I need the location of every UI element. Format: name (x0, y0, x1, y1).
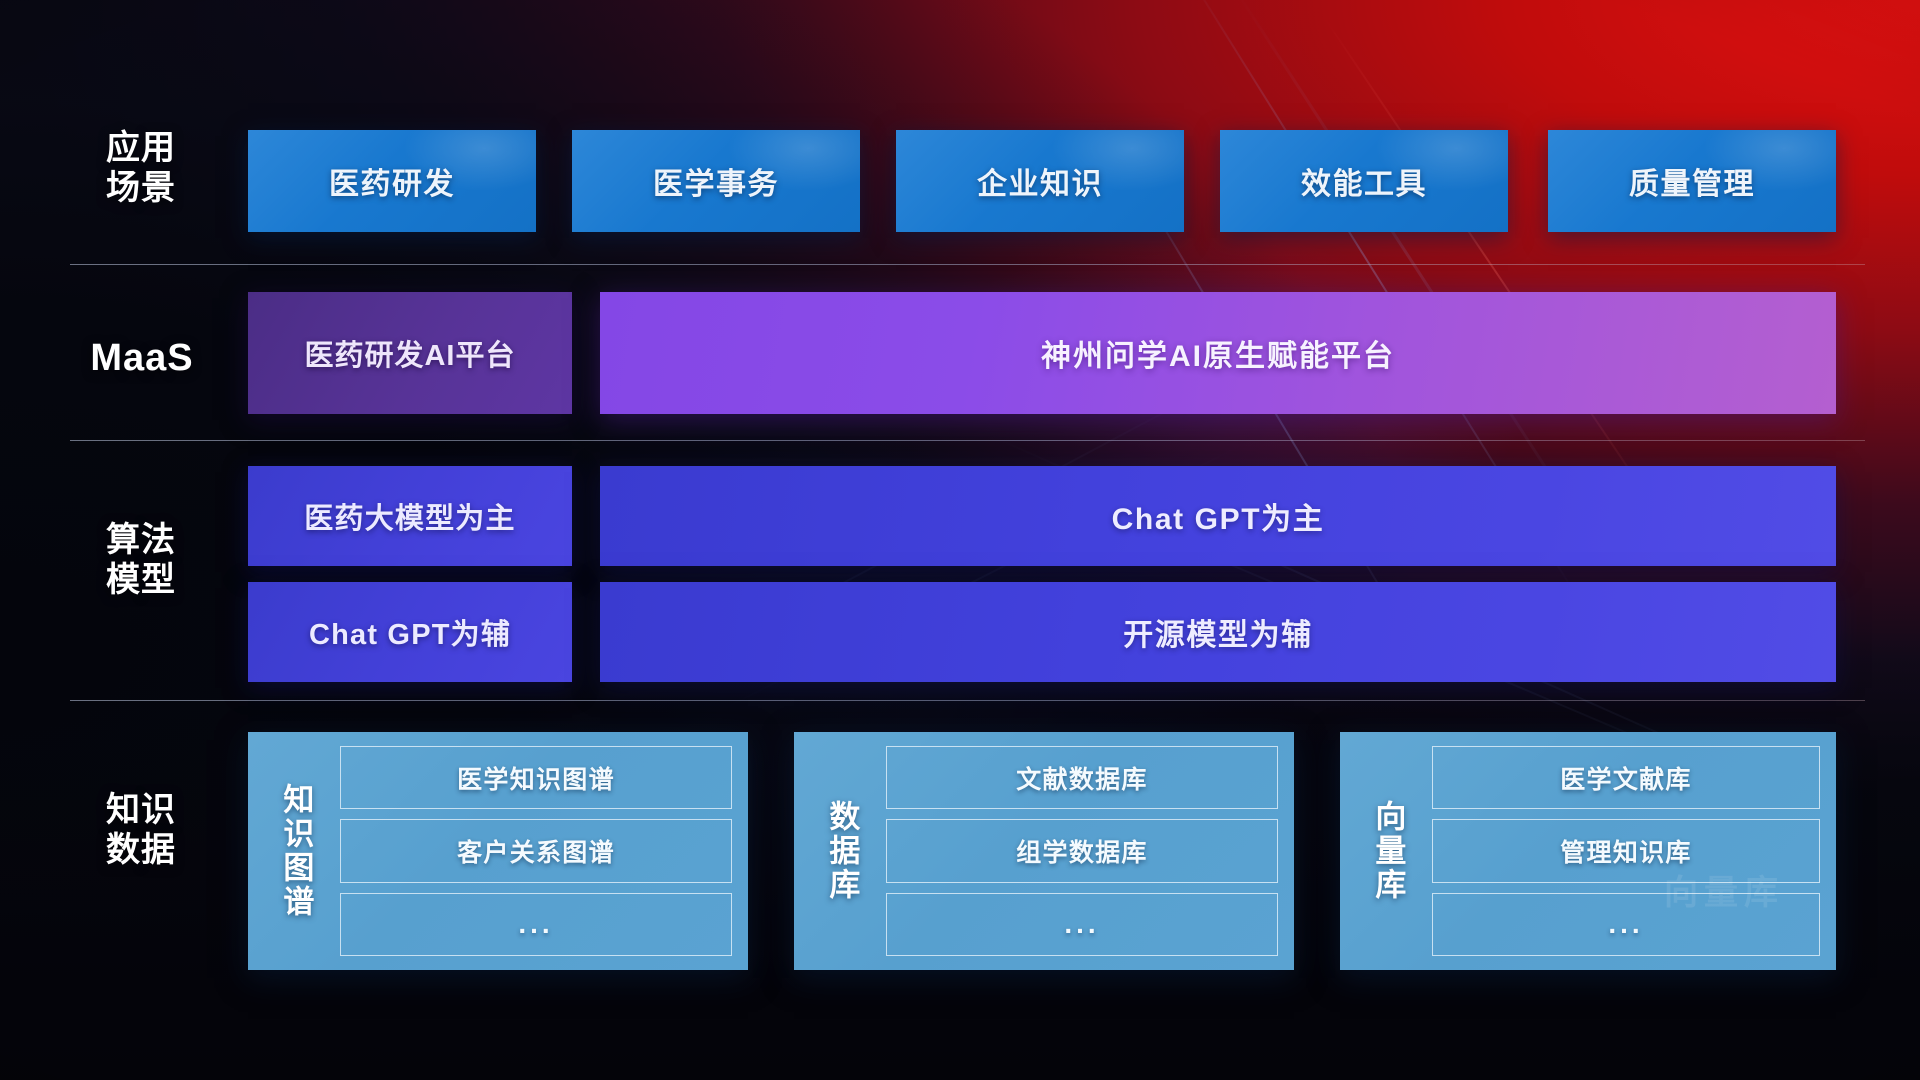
divider-algorithm-knowledge (70, 700, 1865, 701)
divider-application-maas (70, 264, 1865, 265)
app-scenario-box-2[interactable]: 医学事务 (572, 130, 860, 232)
knowledge-card-3-items: 医学文献库 管理知识库 ... (1418, 746, 1820, 956)
knowledge-card-2-title: 数据库 (810, 746, 872, 956)
maas-platform-box-left[interactable]: 医药研发AI平台 (248, 292, 572, 414)
knowledge-card-2-item-3[interactable]: ... (886, 893, 1278, 956)
maas-platform-box-right[interactable]: 神州问学AI原生赋能平台 (600, 292, 1836, 414)
knowledge-card-1-items: 医学知识图谱 客户关系图谱 ... (326, 746, 732, 956)
algorithm-label-row2-left: Chat GPT为辅 (309, 611, 511, 653)
row-label-knowledge: 知识 数据 (76, 790, 206, 870)
row-label-application: 应用 场景 (76, 128, 206, 208)
knowledge-card-2-item-2[interactable]: 组学数据库 (886, 819, 1278, 882)
knowledge-card-1-item-2[interactable]: 客户关系图谱 (340, 819, 732, 882)
row-label-algorithm-line1: 算法 (76, 520, 206, 560)
algorithm-box-row2-right[interactable]: 开源模型为辅 (600, 582, 1836, 682)
row-label-maas: MaaS (62, 336, 222, 381)
app-scenario-label-4: 效能工具 (1301, 159, 1427, 203)
knowledge-card-1-item-1[interactable]: 医学知识图谱 (340, 746, 732, 809)
knowledge-card-2[interactable]: 数据库 文献数据库 组学数据库 ... (794, 732, 1294, 970)
row-label-algorithm-line2: 模型 (76, 560, 206, 600)
app-scenario-box-3[interactable]: 企业知识 (896, 130, 1184, 232)
knowledge-card-1-title: 知识图谱 (264, 746, 326, 956)
row-label-application-line1: 应用 (76, 128, 206, 168)
row-label-application-line2: 场景 (76, 168, 206, 208)
algorithm-box-row1-left[interactable]: 医药大模型为主 (248, 466, 572, 566)
app-scenario-label-5: 质量管理 (1629, 159, 1755, 203)
slide-canvas: 应用 场景 医药研发 医学事务 企业知识 效能工具 质量管理 MaaS 医药研发… (0, 0, 1920, 1080)
knowledge-card-2-item-1[interactable]: 文献数据库 (886, 746, 1278, 809)
knowledge-card-3-item-2[interactable]: 管理知识库 (1432, 819, 1820, 882)
divider-maas-algorithm (70, 440, 1865, 441)
knowledge-card-3-item-3[interactable]: ... (1432, 893, 1820, 956)
knowledge-card-3-item-1[interactable]: 医学文献库 (1432, 746, 1820, 809)
row-label-knowledge-line2: 数据 (76, 830, 206, 870)
algorithm-box-row1-right[interactable]: Chat GPT为主 (600, 466, 1836, 566)
row-label-algorithm: 算法 模型 (76, 520, 206, 600)
app-scenario-box-5[interactable]: 质量管理 (1548, 130, 1836, 232)
knowledge-card-2-items: 文献数据库 组学数据库 ... (872, 746, 1278, 956)
algorithm-label-row1-right: Chat GPT为主 (1112, 494, 1325, 538)
algorithm-label-row1-left: 医药大模型为主 (304, 495, 515, 537)
knowledge-card-1-item-3[interactable]: ... (340, 893, 732, 956)
row-label-maas-text: MaaS (62, 336, 222, 381)
algorithm-box-row2-left[interactable]: Chat GPT为辅 (248, 582, 572, 682)
app-scenario-label-3: 企业知识 (977, 159, 1103, 203)
row-label-knowledge-line1: 知识 (76, 790, 206, 830)
knowledge-card-3-title: 向量库 (1356, 746, 1418, 956)
app-scenario-box-1[interactable]: 医药研发 (248, 130, 536, 232)
app-scenario-label-1: 医药研发 (329, 159, 455, 203)
knowledge-card-1[interactable]: 知识图谱 医学知识图谱 客户关系图谱 ... (248, 732, 748, 970)
knowledge-card-3[interactable]: 向量库 医学文献库 管理知识库 ... 向量库 (1340, 732, 1836, 970)
app-scenario-box-4[interactable]: 效能工具 (1220, 130, 1508, 232)
algorithm-label-row2-right: 开源模型为辅 (1123, 610, 1313, 654)
maas-platform-label-right: 神州问学AI原生赋能平台 (1041, 331, 1395, 375)
maas-platform-label-left: 医药研发AI平台 (304, 332, 515, 374)
app-scenario-label-2: 医学事务 (653, 159, 779, 203)
